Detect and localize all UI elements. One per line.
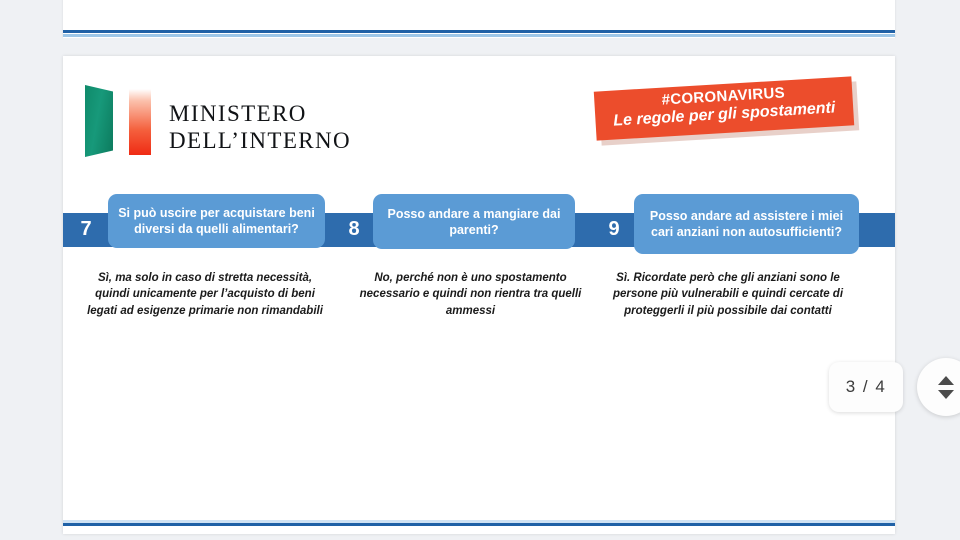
document-viewer[interactable]: MINISTERO DELL’INTERNO #CORONAVIRUS Le r… (0, 0, 960, 540)
logo-green-door-icon (85, 85, 113, 157)
faq-answer-8: No, perché non è uno spostamento necessa… (358, 270, 583, 319)
faq-number-7: 7 (71, 213, 101, 247)
triangle-up-icon[interactable] (938, 376, 954, 385)
faq-number-9: 9 (599, 213, 629, 247)
slide-bottom-rule-dark (63, 30, 895, 33)
slide-footer-rule-dark (63, 523, 895, 526)
faq-question-8: Posso andare a mangiare dai parenti? (373, 194, 575, 249)
ministero-dell-interno-logo: MINISTERO DELL’INTERNO (85, 83, 375, 163)
faq-answer-7: Sì, ma solo in caso di stretta necessità… (85, 270, 325, 319)
previous-slide-sliver (63, 0, 895, 38)
question-row: 7 Si può uscire per acquistare beni dive… (63, 194, 895, 254)
faq-number-8: 8 (339, 213, 369, 247)
faq-question-9: Posso andare ad assistere i miei cari an… (634, 194, 859, 254)
slide-gap (63, 38, 895, 56)
slide-bottom-rule-light (63, 34, 895, 37)
slide-page-3[interactable]: MINISTERO DELL’INTERNO #CORONAVIRUS Le r… (63, 56, 895, 534)
faq-item-8[interactable]: 8 Posso andare a mangiare dai parenti? (325, 194, 575, 254)
triangle-down-icon[interactable] (938, 390, 954, 399)
page-indicator: 3 / 4 (829, 362, 903, 412)
logo-red-bar-icon (129, 89, 151, 155)
faq-question-7: Si può uscire per acquistare beni divers… (108, 194, 325, 248)
page-indicator-label: 3 / 4 (846, 377, 887, 397)
faq-answer-9: Sì. Ricordate però che gli anziani sono … (603, 270, 853, 319)
logo-text: MINISTERO DELL’INTERNO (169, 101, 351, 155)
coronavirus-banner: #CORONAVIRUS Le regole per gli spostamen… (595, 80, 865, 150)
scroll-page-button[interactable] (917, 358, 960, 416)
faq-item-7[interactable]: 7 Si può uscire per acquistare beni dive… (63, 194, 325, 254)
faq-item-9[interactable]: 9 Posso andare ad assistere i miei cari … (589, 194, 859, 254)
